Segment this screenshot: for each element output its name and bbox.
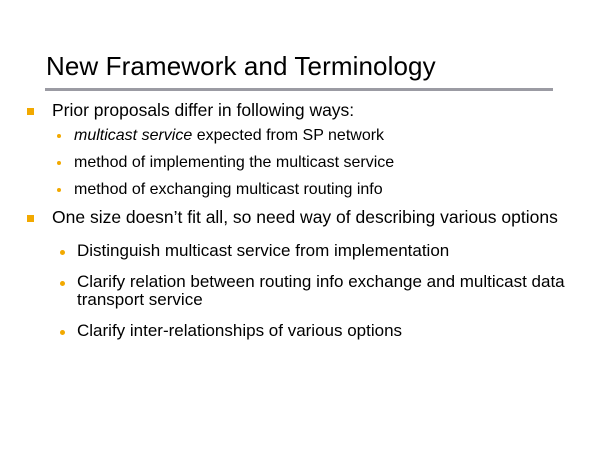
filled-round-bullet-icon — [57, 134, 61, 138]
list-item-label: One size doesn’t fit all, so need way of… — [52, 207, 558, 227]
title-divider — [45, 88, 553, 91]
list-item-level2: Distinguish multicast service from imple… — [0, 242, 600, 260]
list-item-label: Prior proposals differ in following ways… — [52, 100, 354, 120]
list-item-label: Clarify relation between routing info ex… — [77, 272, 565, 309]
slide-canvas: New Framework and Terminology Prior prop… — [0, 0, 600, 450]
list-item-label: multicast service expected from SP netwo… — [74, 127, 384, 144]
spacer — [0, 172, 600, 181]
filled-square-bullet-icon — [27, 215, 34, 222]
list-item-level2: Clarify inter-relationships of various o… — [0, 322, 600, 340]
page-title: New Framework and Terminology — [46, 50, 554, 82]
list-item-label: Distinguish multicast service from imple… — [77, 241, 449, 260]
emphasis-text: multicast service — [74, 127, 192, 144]
list-item-label: Clarify inter-relationships of various o… — [77, 321, 402, 340]
list-item-label: method of exchanging multicast routing i… — [74, 181, 383, 198]
filled-round-bullet-icon — [60, 250, 65, 255]
spacer — [0, 145, 600, 154]
bullet-list: Prior proposals differ in following ways… — [0, 101, 600, 340]
list-item-level1: One size doesn’t fit all, so need way of… — [0, 208, 600, 227]
list-item-level2: multicast service expected from SP netwo… — [0, 127, 600, 145]
list-item-level2: Clarify relation between routing info ex… — [0, 273, 600, 309]
title-block: New Framework and Terminology — [46, 50, 554, 82]
list-item-level2: method of exchanging multicast routing i… — [0, 181, 600, 199]
filled-round-bullet-icon — [57, 188, 61, 192]
list-item-level2: method of implementing the multicast ser… — [0, 154, 600, 172]
list-item-label-rest: expected from SP network — [192, 127, 384, 144]
list-item-level1: Prior proposals differ in following ways… — [0, 101, 600, 120]
filled-round-bullet-icon — [60, 330, 65, 335]
filled-round-bullet-icon — [60, 281, 65, 286]
filled-round-bullet-icon — [57, 161, 61, 165]
filled-square-bullet-icon — [27, 108, 34, 115]
list-item-label: method of implementing the multicast ser… — [74, 154, 394, 171]
